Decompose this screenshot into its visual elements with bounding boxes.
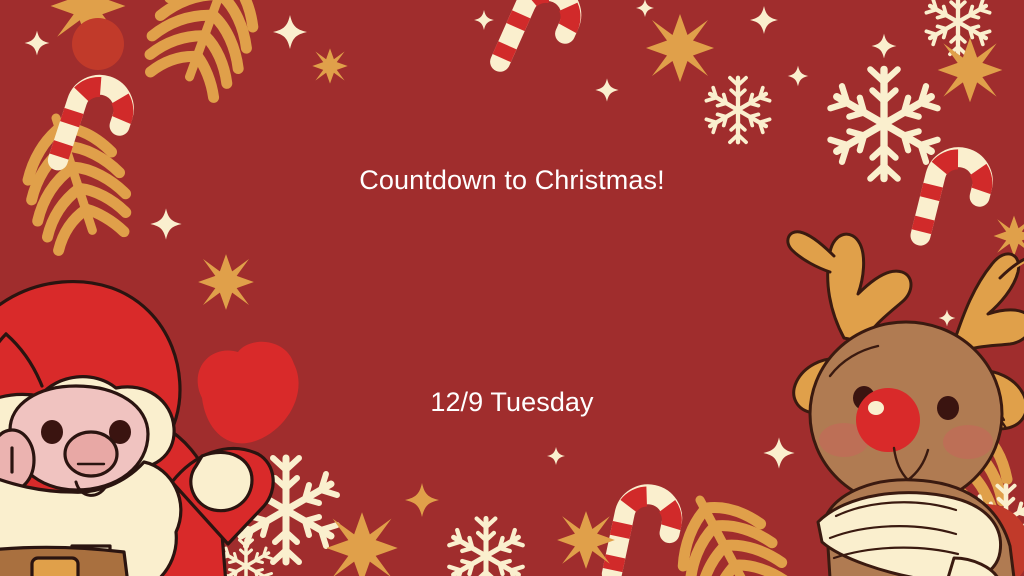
message-spacer xyxy=(132,273,892,310)
message-line-title: Countdown to Christmas! xyxy=(132,162,892,199)
message-line-date: 12/9 Tuesday xyxy=(132,384,892,421)
christmas-announcement-poster: Countdown to Christmas! 12/9 Tuesday Twi… xyxy=(0,0,1024,576)
announcement-text-block: Countdown to Christmas! 12/9 Tuesday Twi… xyxy=(132,88,892,576)
message-spacer xyxy=(132,495,892,532)
